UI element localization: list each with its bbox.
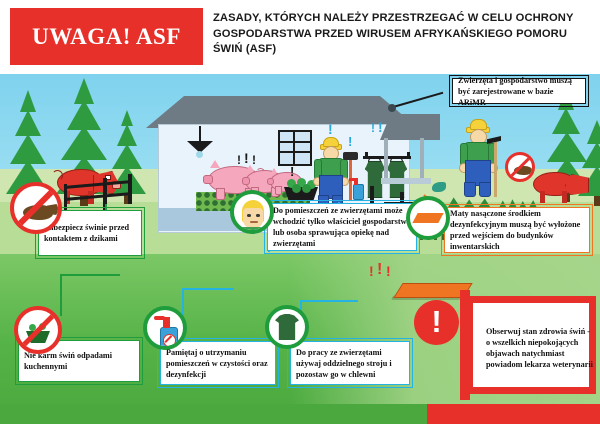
exclamation-marker: ! [252, 154, 256, 166]
page-title: ZASADY, KTÓRYCH NALEŻY PRZESTRZEGAĆ W CE… [213, 11, 588, 58]
exclamation-marker: ! [237, 154, 241, 166]
callout-registration-text: Zwierzęta i gospodarstwo muszą być zarej… [453, 75, 585, 108]
callout-cleanliness-text: Pamiętaj o utrzymaniu pomieszczeń w czys… [161, 347, 275, 380]
spray-bottle-icon [143, 306, 187, 350]
ceiling-lamp-cord [199, 126, 201, 141]
exclamation-marker: ! [378, 120, 383, 134]
no-kitchen-waste-icon [14, 306, 62, 354]
no-wild-boar-icon [505, 152, 535, 182]
leader-line-kitchen-waste [60, 274, 62, 316]
callout-mats-text: Maty nasączone środkiem dezynfekcyjnym m… [445, 208, 589, 252]
callout-cleanliness: Pamiętaj o utrzymaniu pomieszczeń w czys… [160, 341, 276, 385]
bird [432, 182, 446, 192]
exclamation-marker: ! [348, 135, 352, 148]
bottom-strip-red [427, 404, 600, 424]
exclamation-marker: ! [290, 165, 294, 178]
callout-clothing-text: Do pracy ze zwierzętami używaj oddzielne… [291, 347, 409, 380]
exclamation-marker: ! [328, 122, 333, 136]
disinfection-mat-icon [406, 196, 450, 240]
callout-clothing: Do pracy ze zwierzętami używaj oddzielne… [290, 341, 410, 385]
health-alert-text: Obserwuj stan zdrowia świń - o wszelkich… [486, 326, 594, 370]
callout-mats: Maty nasączone środkiem dezynfekcyjnym m… [444, 207, 590, 253]
exclamation-marker: ! [371, 122, 375, 134]
farmer-face-icon [230, 190, 274, 234]
asf-poster: UWAGA! ASF ZASADY, KTÓRYCH NALEŻY PRZEST… [0, 0, 600, 424]
callout-access: Do pomieszczeń ze zwierzętami może wchod… [267, 203, 417, 251]
poster-header: UWAGA! ASF ZASADY, KTÓRYCH NALEŻY PRZEST… [0, 0, 600, 74]
exclamation-glyph: ! [431, 306, 441, 337]
exclamation-marker: ! [377, 262, 382, 278]
callout-access-text: Do pomieszczeń ze zwierzętami może wchod… [268, 205, 416, 249]
work-shirt-icon [265, 305, 309, 349]
exclamation-marker: ! [244, 151, 249, 165]
callout-registration: Zwierzęta i gospodarstwo muszą być zarej… [452, 78, 586, 104]
title-badge: UWAGA! ASF [10, 8, 203, 65]
barn-window [278, 130, 312, 166]
ceiling-lamp-bulb [196, 151, 203, 158]
no-wild-boar-icon [10, 182, 62, 234]
exclamation-icon: ! [414, 300, 459, 345]
exclamation-marker: ! [369, 264, 374, 278]
title-badge-text: UWAGA! ASF [32, 24, 181, 50]
exclamation-marker: ! [386, 264, 391, 278]
